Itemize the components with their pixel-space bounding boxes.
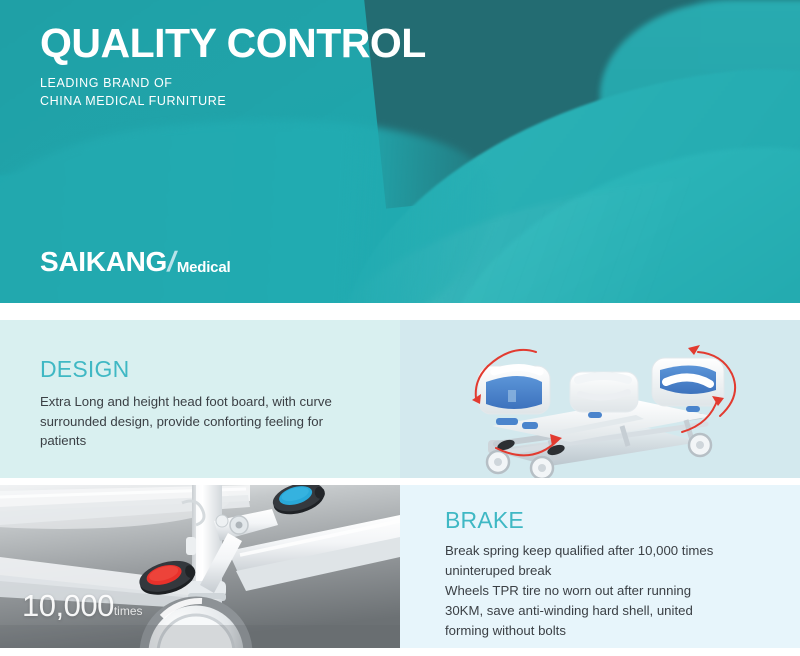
logo-wordmark: SAIKANG bbox=[40, 248, 167, 276]
design-photo bbox=[400, 320, 800, 478]
divider-top bbox=[0, 303, 800, 320]
hospital-bed-illustration bbox=[400, 320, 800, 478]
brake-body-line: 30KM, save anti-winding hard shell, unit… bbox=[445, 601, 770, 621]
brake-body-line: Wheels TPR tire no worn out after runnin… bbox=[445, 581, 770, 601]
odometer-value: 10,000 bbox=[22, 591, 114, 620]
subtitle-line-1: LEADING BRAND OF bbox=[40, 74, 426, 92]
brake-text-panel: BRAKE Break spring keep qualified after … bbox=[400, 485, 800, 648]
brake-body-line: forming without bolts bbox=[445, 621, 770, 641]
subtitle-line-2: CHINA MEDICAL FURNITURE bbox=[40, 92, 426, 110]
brake-body: Break spring keep qualified after 10,000… bbox=[445, 541, 770, 641]
brake-pedal-closeup-illustration bbox=[0, 485, 400, 648]
section-brake: 10,000 times BRAKE Break spring keep qua… bbox=[0, 485, 800, 648]
page-title: QUALITY CONTROL bbox=[40, 22, 426, 65]
brake-heading: BRAKE bbox=[445, 509, 770, 532]
design-heading: DESIGN bbox=[40, 358, 360, 381]
brake-body-line: uninteruped break bbox=[445, 561, 770, 581]
page-subtitle: LEADING BRAND OF CHINA MEDICAL FURNITURE bbox=[40, 74, 426, 110]
design-body: Extra Long and height head foot board, w… bbox=[40, 392, 360, 451]
header-banner: QUALITY CONTROL LEADING BRAND OF CHINA M… bbox=[0, 0, 800, 303]
banner-text-block: QUALITY CONTROL LEADING BRAND OF CHINA M… bbox=[40, 22, 426, 110]
quality-control-page: QUALITY CONTROL LEADING BRAND OF CHINA M… bbox=[0, 0, 800, 656]
odometer-unit: times bbox=[114, 605, 143, 617]
divider-middle bbox=[0, 478, 800, 485]
section-design: DESIGN Extra Long and height head foot b… bbox=[0, 320, 800, 478]
divider-bottom bbox=[0, 648, 800, 656]
brand-logo: SAIKANG / Medical bbox=[40, 248, 230, 276]
brake-body-line: Break spring keep qualified after 10,000… bbox=[445, 541, 770, 561]
design-text-panel: DESIGN Extra Long and height head foot b… bbox=[0, 320, 400, 478]
brake-photo: 10,000 times bbox=[0, 485, 400, 648]
odometer-overlay: 10,000 times bbox=[22, 591, 143, 620]
logo-tagline: Medical bbox=[177, 260, 231, 275]
